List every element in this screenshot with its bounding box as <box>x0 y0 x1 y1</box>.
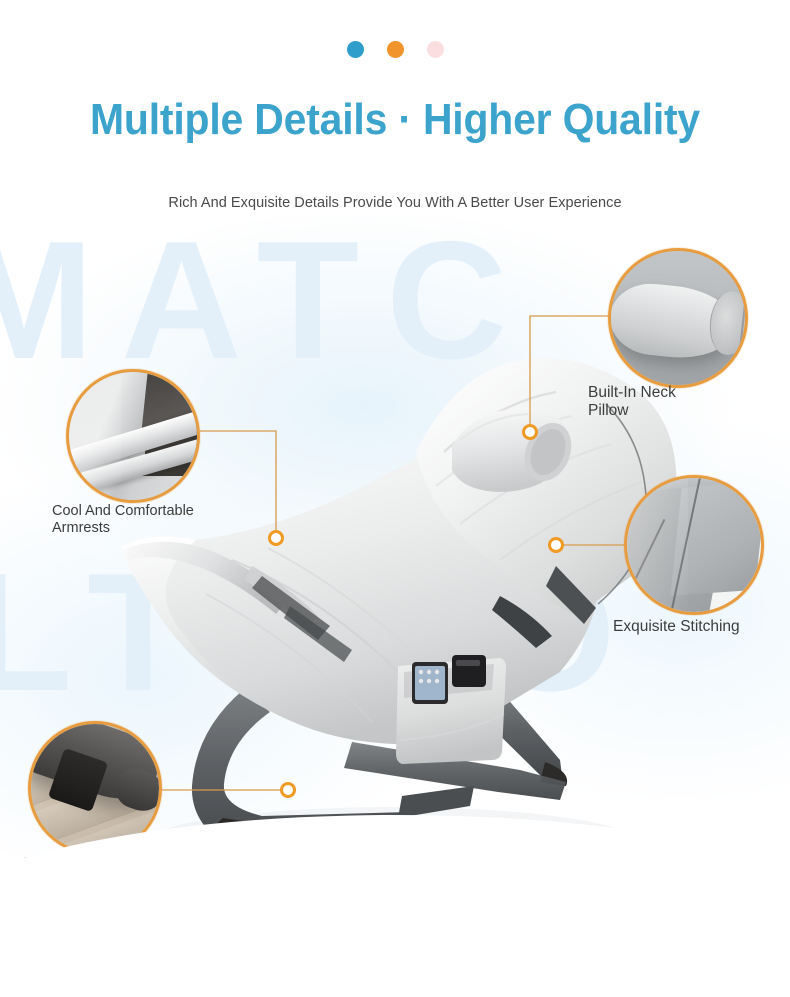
callout-image-anti-slip-feet <box>31 724 159 852</box>
callout-bubble-armrests[interactable] <box>66 369 200 503</box>
callout-label-neck-pillow: Built-In Neck Pillow <box>588 384 788 421</box>
callout-bubble-stitching[interactable] <box>624 475 764 615</box>
callout-label-armrests: Cool And Comfortable Armrests <box>52 503 282 537</box>
callout-label-anti-slip-feet: Silent Anti-Slip Feet <box>22 855 242 892</box>
callout-image-stitching <box>627 478 761 612</box>
callout-bubble-anti-slip-feet[interactable] <box>28 721 162 855</box>
callout-image-neck-pillow <box>611 251 745 385</box>
callout-label-stitching: Exquisite Stitching <box>613 618 790 636</box>
callout-image-armrests <box>69 372 197 500</box>
infographic-page: MATC LTTYO Multiple Details · Higher Qua… <box>0 0 790 997</box>
callout-bubble-neck-pillow[interactable] <box>608 248 748 388</box>
